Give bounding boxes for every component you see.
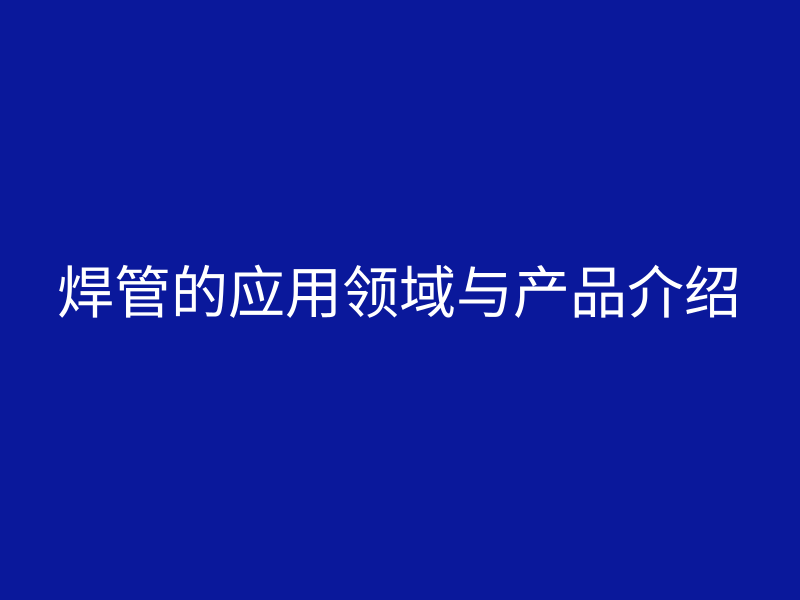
slide-title: 焊管的应用领域与产品介绍 xyxy=(57,266,741,323)
presentation-slide: 焊管的应用领域与产品介绍 xyxy=(0,0,800,600)
title-band: 焊管的应用领域与产品介绍 xyxy=(0,0,800,600)
